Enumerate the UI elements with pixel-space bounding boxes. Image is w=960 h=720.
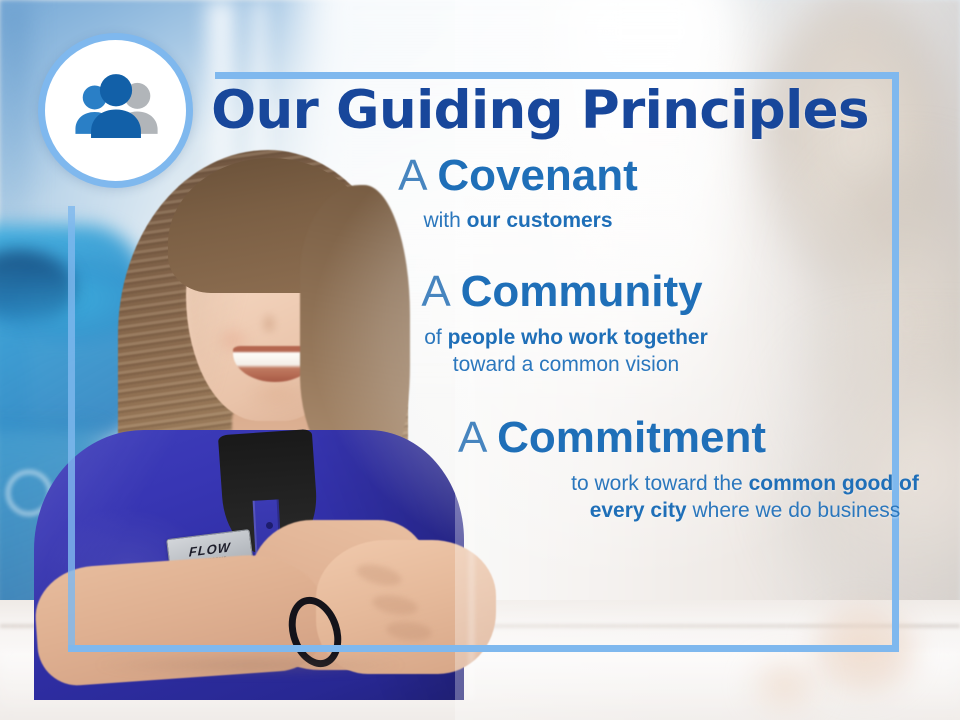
sub-lead: of	[424, 326, 442, 349]
principle-keyword: Commitment	[497, 413, 766, 462]
sub-line-2: we do business	[756, 499, 901, 522]
copy-block: Our Guiding Principles A Covenant with o…	[200, 84, 880, 525]
principles-badge	[38, 33, 193, 188]
principle-commitment-title: A Commitment	[272, 415, 952, 462]
principle-community-subtitle: of people who work together toward a com…	[226, 324, 906, 379]
principle-keyword: Community	[461, 267, 703, 316]
group-of-people-icon	[64, 59, 168, 163]
principle-community: A Community of people who work together …	[222, 269, 902, 379]
banner-canvas: FLOW AUTOMOTIVE FLOW	[0, 0, 960, 720]
sub-tail: where	[692, 499, 749, 522]
sub-bold: people who work together	[448, 326, 708, 349]
principle-article: A	[421, 267, 448, 316]
principle-covenant-title: A Covenant	[178, 153, 858, 200]
principle-covenant-subtitle: with our customers	[178, 207, 858, 235]
principle-commitment: A Commitment to work toward the common g…	[272, 415, 952, 525]
arm-shadow	[40, 652, 460, 678]
principle-article: A	[398, 151, 425, 200]
sub-lead: to work toward the	[571, 472, 743, 495]
page-title: Our Guiding Principles	[200, 84, 880, 139]
sub-lead: with	[423, 209, 460, 232]
principle-commitment-subtitle: to work toward the common good of every …	[550, 470, 940, 525]
principle-covenant: A Covenant with our customers	[178, 153, 858, 235]
principle-article: A	[458, 413, 485, 462]
principle-community-title: A Community	[222, 269, 902, 316]
sub-bold: our customers	[467, 209, 613, 232]
sub-line-2: toward a common vision	[453, 353, 679, 376]
principle-keyword: Covenant	[437, 151, 637, 200]
